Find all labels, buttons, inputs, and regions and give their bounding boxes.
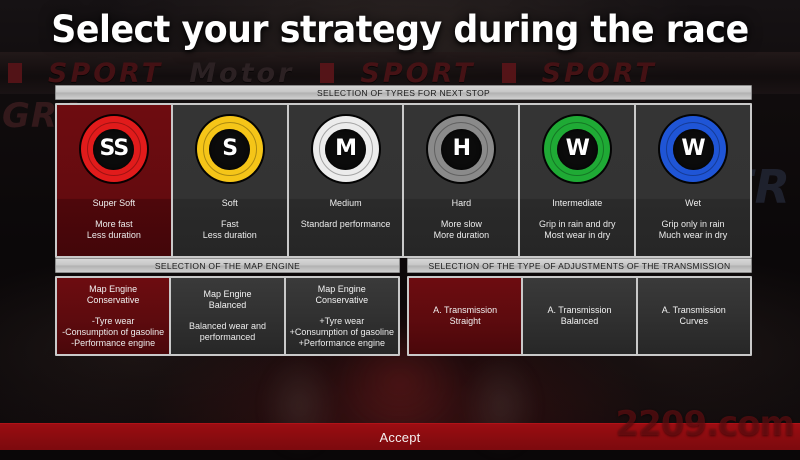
map-engine-card-3[interactable]: Map EngineConservative+Tyre wear+Consump… [286, 278, 398, 354]
map-engine-card-title: Map EngineConservative [87, 284, 140, 306]
tyre-name: Soft [222, 198, 238, 208]
tyre-card-super-soft[interactable]: SSSuper SoftMore fastLess duration [57, 105, 173, 256]
tyre-compound-code: H [453, 138, 470, 160]
transmission-card-title: A. TransmissionStraight [433, 305, 497, 327]
tyre-soft-icon: S [197, 116, 263, 182]
tyre-compound-code: SS [100, 138, 129, 160]
tyre-card-medium[interactable]: MMediumStandard performance [289, 105, 405, 256]
tyre-description: Grip in rain and dryMost wear in dry [535, 219, 620, 241]
banner-tick [8, 63, 22, 83]
tyre-icon-wrap: W [636, 105, 750, 193]
banner-word: SPORT [48, 58, 163, 89]
tyre-name: Wet [685, 198, 701, 208]
accept-button[interactable]: Accept [0, 423, 800, 450]
map-engine-card-title: Map EngineConservative [316, 284, 369, 306]
accept-button-label: Accept [380, 430, 421, 445]
map-engine-card-2[interactable]: Map EngineBalancedBalanced wear andperfo… [171, 278, 285, 354]
tyre-section-header: SELECTION OF TYRES FOR NEXT STOP [55, 85, 752, 100]
banner-word: SPORT [542, 58, 657, 89]
tyre-description: More fastLess duration [83, 219, 145, 241]
tyre-hub: H [441, 129, 482, 170]
tyre-icon-wrap: W [520, 105, 634, 193]
transmission-card-title: A. TransmissionCurves [662, 305, 726, 327]
transmission-card-3[interactable]: A. TransmissionCurves [638, 278, 750, 354]
transmission-section-header: SELECTION OF THE TYPE OF ADJUSTMENTS OF … [407, 258, 752, 273]
tyre-selection-section: SELECTION OF TYRES FOR NEXT STOP SSSuper… [55, 85, 752, 258]
tyre-card-hard[interactable]: HHardMore slowMore duration [404, 105, 520, 256]
map-engine-section: SELECTION OF THE MAP ENGINE Map EngineCo… [55, 258, 400, 356]
map-engine-card-description: Balanced wear andperformanced [189, 321, 266, 343]
transmission-section: SELECTION OF THE TYPE OF ADJUSTMENTS OF … [407, 258, 752, 356]
tyre-hub: SS [93, 129, 134, 170]
tyre-name: Hard [452, 198, 472, 208]
map-engine-card-title: Map EngineBalanced [203, 289, 251, 311]
tyre-compound-code: M [335, 138, 356, 160]
tyre-icon-wrap: SS [57, 105, 171, 193]
tyre-description: FastLess duration [199, 219, 261, 241]
tyre-compound-code: W [681, 138, 704, 160]
page-title: Select your strategy during the race [24, 8, 776, 51]
tyre-hub: W [673, 129, 714, 170]
tyre-description: Grip only in rainMuch wear in dry [655, 219, 732, 241]
tyre-medium-icon: M [313, 116, 379, 182]
tyre-icon-wrap: S [173, 105, 287, 193]
tyre-hub: W [557, 129, 598, 170]
tyre-icon-wrap: M [289, 105, 403, 193]
transmission-card-1[interactable]: A. TransmissionStraight [409, 278, 523, 354]
banner-tick [502, 63, 516, 83]
tyre-hub: M [325, 129, 366, 170]
tyre-description: More slowMore duration [430, 219, 494, 241]
banner-word: SPORT [360, 58, 475, 89]
banner-word: Motor [189, 58, 294, 89]
map-engine-card-1[interactable]: Map EngineConservative-Tyre wear-Consump… [57, 278, 171, 354]
map-engine-card-description: -Tyre wear-Consumption of gasoline-Perfo… [62, 316, 164, 349]
banner-tick [320, 63, 334, 83]
tyre-compound-code: W [566, 138, 589, 160]
map-engine-card-list: Map EngineConservative-Tyre wear-Consump… [55, 276, 400, 356]
tyre-hub: S [209, 129, 250, 170]
tyre-hard-icon: H [428, 116, 494, 182]
tyre-card-list: SSSuper SoftMore fastLess durationSSoftF… [55, 103, 752, 258]
map-engine-card-description: +Tyre wear+Consumption of gasoline+Perfo… [290, 316, 394, 349]
tyre-name: Super Soft [93, 198, 136, 208]
tyre-wet-icon: W [660, 116, 726, 182]
tyre-intermediate-icon: W [544, 116, 610, 182]
transmission-card-list: A. TransmissionStraightA. TransmissionBa… [407, 276, 752, 356]
tyre-icon-wrap: H [404, 105, 518, 193]
tyre-card-intermediate[interactable]: WIntermediateGrip in rain and dryMost we… [520, 105, 636, 256]
tyre-name: Intermediate [552, 198, 602, 208]
tyre-compound-code: S [222, 138, 237, 160]
tyre-card-wet[interactable]: WWetGrip only in rainMuch wear in dry [636, 105, 750, 256]
map-engine-section-header: SELECTION OF THE MAP ENGINE [55, 258, 400, 273]
tyre-description: Standard performance [297, 219, 395, 230]
tyre-name: Medium [330, 198, 362, 208]
transmission-card-title: A. TransmissionBalanced [547, 305, 611, 327]
tyre-card-soft[interactable]: SSoftFastLess duration [173, 105, 289, 256]
tyre-super-soft-icon: SS [81, 116, 147, 182]
transmission-card-2[interactable]: A. TransmissionBalanced [523, 278, 637, 354]
